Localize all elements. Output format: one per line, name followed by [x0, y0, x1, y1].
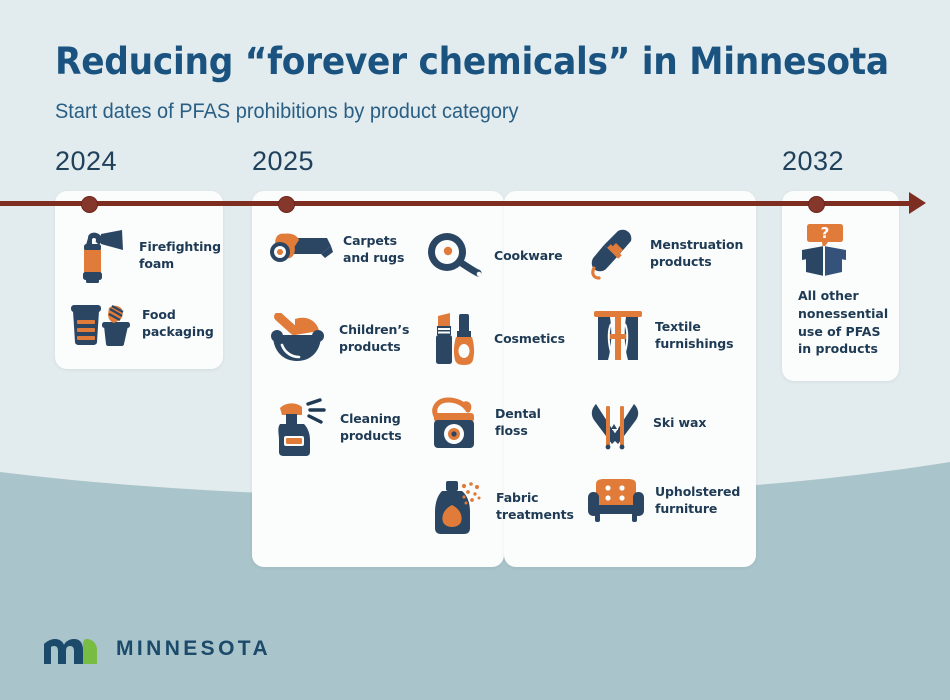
skis-icon [588, 396, 642, 450]
tampon-icon [585, 228, 641, 280]
year-label-2024: 2024 [55, 146, 117, 177]
list-item: Textile furnishings [592, 308, 731, 364]
card-2032-label: All other nonessential use of PFAS in pr… [798, 287, 893, 358]
lipstick-nailpolish-icon [432, 310, 484, 368]
svg-text:?: ? [821, 224, 830, 242]
logo-wordmark: MINNESOTA [116, 637, 271, 661]
carpet-roll-icon [263, 228, 335, 272]
list-item-label: Fabric treatments [496, 490, 568, 524]
minnesota-logo[interactable]: MINNESOTA [42, 632, 271, 666]
year-label-2032: 2032 [782, 146, 844, 177]
list-item: Menstruation products [585, 228, 740, 280]
baby-rattle-icon [265, 313, 331, 365]
list-item-label: Menstruation products [650, 237, 740, 271]
list-item-label: Ski wax [653, 415, 709, 432]
spray-bottle-icon [272, 398, 330, 458]
dental-floss-icon [428, 396, 486, 450]
list-item: Firefighting foam [70, 228, 217, 284]
fire-extinguisher-icon [70, 228, 130, 284]
list-item-label: Textile furnishings [655, 319, 731, 353]
curtain-icon [592, 308, 644, 364]
list-item: Dental floss [428, 396, 575, 450]
timeline-line [0, 201, 917, 206]
open-box-question-icon: ? [798, 222, 850, 278]
fabric-spray-icon [430, 478, 486, 536]
page-title: Reducing “forever chemicals” in Minnesot… [55, 40, 889, 83]
list-item: Ski wax [588, 396, 709, 450]
list-item-label: Children’s products [339, 322, 405, 356]
frying-pan-icon [425, 232, 485, 280]
list-item: Children’s products [265, 313, 405, 365]
timeline-dot-2032 [808, 196, 825, 213]
timeline-dot-2024 [81, 196, 98, 213]
list-item-label: Cookware [494, 248, 572, 265]
list-item: Fabric treatments [430, 478, 568, 536]
list-item-label: Cosmetics [494, 331, 570, 348]
food-container-icon [66, 300, 134, 348]
list-item: Carpets and rugs [263, 228, 409, 272]
minnesota-m-logo [42, 632, 100, 666]
arrow-right-icon [909, 192, 926, 214]
list-item: Upholstered furniture [586, 478, 741, 524]
list-item: Cleaning products [272, 398, 408, 458]
timeline-dot-2025 [278, 196, 295, 213]
list-item-label: Dental floss [495, 406, 575, 440]
year-label-2025: 2025 [252, 146, 314, 177]
list-item: Cosmetics [432, 310, 570, 368]
infographic-canvas: Reducing “forever chemicals” in Minnesot… [0, 0, 950, 700]
sofa-icon [586, 478, 646, 524]
list-item-label: Cleaning products [340, 411, 408, 445]
list-item: Cookware [425, 232, 572, 280]
list-item-label: Carpets and rugs [343, 233, 409, 267]
page-subtitle: Start dates of PFAS prohibitions by prod… [55, 100, 519, 124]
list-item-label: Firefighting foam [139, 239, 217, 273]
list-item-label: Upholstered furniture [655, 484, 741, 518]
list-item: Food packaging [66, 300, 214, 348]
list-item-label: Food packaging [142, 307, 214, 341]
